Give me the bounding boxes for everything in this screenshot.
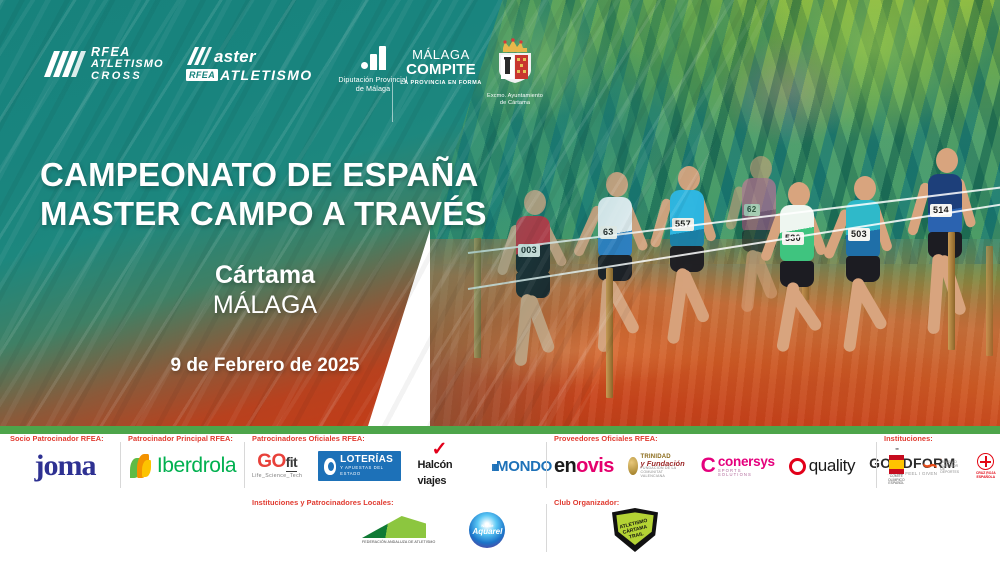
csd-caption: CONSEJO SUPERIOR DE DEPORTES [940, 461, 962, 475]
rfea-atletismo-cross-logo: RFEA ATLETISMO CROSS [42, 46, 182, 92]
loterias-logo[interactable]: LOTERÍAS Y APUESTAS DEL ESTADO [318, 451, 401, 481]
sponsor-group-club-organizador: Club Organizador: ATLETISMO CÁRTAMA TRAI… [554, 498, 774, 562]
conersys-sys: sys [753, 454, 775, 469]
fada-logo[interactable]: FEDERACIÓN ANDALUZA DE ATLETISMO [362, 516, 435, 544]
sponsor-group-patrocinador-principal: Patrocinador Principal RFEA: Iberdrola [128, 434, 238, 496]
event-poster: 003 63 557 [0, 0, 1000, 563]
sponsor-group-locales: Instituciones y Patrocinadores Locales: … [252, 498, 552, 562]
aquarel-logo[interactable]: Nestlé Aquarel [469, 512, 505, 548]
comite-olimpico-espanol-logo[interactable]: ◦◦◦ COMITÉ OLÍMPICO ESPAÑOL [884, 446, 909, 485]
iberdrola-leaf-icon [130, 454, 154, 479]
sponsor-separator [546, 442, 547, 488]
conersys-coner: coner [718, 454, 753, 469]
enovis-en: en [554, 455, 576, 477]
event-title-line-2: MASTER CAMPO A TRAVÉS [40, 194, 520, 233]
event-province: MÁLAGA [40, 290, 490, 320]
sponsor-group-label: Club Organizador: [554, 498, 774, 507]
ayuntamiento-cartama-logo: Excmo. Ayuntamiento de Cártama [484, 38, 546, 107]
event-title-line-1: CAMPEONATO DE ESPAÑA [40, 155, 520, 194]
fundacion-seal-icon [628, 457, 638, 475]
fundacion-tagline: FUNDACIÓN DE LA COMUNITAT VALENCIANA [641, 467, 687, 478]
conersys-c-icon: C [701, 457, 716, 475]
loterias-ball-icon [324, 458, 336, 475]
consejo-superior-deportes-logo[interactable]: ∽ · CONSEJO SUPERIOR DE DEPORTES [922, 457, 963, 475]
aquarel-wordmark: Aquarel [473, 528, 503, 536]
cartama-coat-of-arms-icon [492, 38, 538, 86]
red-cross-icon [977, 453, 994, 470]
fada-mountain-icon [362, 516, 435, 538]
sponsor-group-label: Patrocinadores Oficiales RFEA: [252, 434, 552, 443]
loterias-subtext: Y APUESTAS DEL ESTADO [340, 465, 395, 477]
logo-divider [392, 82, 393, 122]
rfea-line-3: CROSS [91, 70, 164, 82]
sponsor-footer: Socio Patrocinador RFEA: joma Patrocinad… [0, 434, 1000, 563]
compite-line-2: COMPITE [398, 62, 484, 77]
sponsor-group-label: Instituciones: [884, 434, 996, 443]
sponsor-group-label: Patrocinador Principal RFEA: [128, 434, 238, 443]
master-wordmark-bottom: ATLETISMO [220, 68, 312, 83]
loterias-wordmark: LOTERÍAS [340, 455, 395, 465]
sponsor-separator [120, 442, 121, 488]
halcon-viajes-logo[interactable]: ✓ Halcón viajes [417, 444, 475, 488]
club-wordmark: ATLETISMO CÁRTAMA TRAIL [607, 503, 662, 557]
sponsor-group-proveedores-oficiales: Proveedores Oficiales RFEA: enovis TRINI… [554, 434, 880, 496]
conersys-logo[interactable]: C conersys SPORTS SOLUTIONS [701, 455, 775, 477]
halcon-viajes-word: viajes [417, 475, 446, 487]
quality-ring-icon [789, 458, 806, 475]
halcon-wordmark: Halcón [417, 459, 452, 471]
sponsor-group-patrocinadores-oficiales: Patrocinadores Oficiales RFEA: GOfit Lif… [252, 434, 552, 496]
sponsor-row-top: Socio Patrocinador RFEA: joma Patrocinad… [0, 434, 1000, 496]
fada-caption: FEDERACIÓN ANDALUZA DE ATLETISMO [362, 540, 435, 544]
event-date: 9 de Febrero de 2025 [40, 355, 490, 377]
sponsor-group-socio-patrocinador: Socio Patrocinador RFEA: joma [10, 434, 120, 496]
gofit-tagline: Life_Science_Tech [252, 474, 302, 479]
master-chevron-icon [186, 46, 212, 66]
gofit-logo[interactable]: GOfit Life_Science_Tech [252, 452, 302, 479]
iberdrola-wordmark: Iberdrola [157, 454, 236, 478]
atletismo-cartama-trail-logo[interactable]: ATLETISMO CÁRTAMA TRAIL [612, 508, 658, 552]
sponsor-separator [546, 504, 547, 552]
sponsor-group-label: Socio Patrocinador RFEA: [10, 434, 120, 443]
sponsor-group-instituciones: Instituciones: ◦◦◦ COMITÉ OLÍMPICO ESPAÑ… [884, 434, 996, 496]
halcon-tick-icon: ✓ [431, 444, 475, 456]
rfea-line-1: RFEA [91, 46, 164, 58]
sponsor-separator [876, 442, 877, 488]
rfea-line-2: ATLETISMO [91, 58, 164, 70]
master-rfea-chip: RFEA [186, 69, 218, 81]
sponsor-separator [244, 442, 245, 488]
gofit-go: GO [257, 451, 285, 472]
sponsor-group-label: Proveedores Oficiales RFEA: [554, 434, 880, 443]
master-atletismo-logo: aster RFEA ATLETISMO [186, 46, 326, 92]
master-wordmark-top: aster [214, 48, 256, 65]
fundacion-trinidad-alfonso-logo[interactable]: TRINIDAD y Fundación FUNDACIÓN DE LA COM… [628, 454, 687, 478]
joma-logo[interactable]: joma [35, 451, 96, 481]
event-city: Cártama [40, 260, 490, 290]
header-logo-strip: RFEA ATLETISMO CROSS a [0, 38, 640, 100]
compite-line-1: MÁLAGA [398, 48, 484, 62]
gofit-fit: fit [286, 454, 297, 472]
hero-section: 003 63 557 [0, 0, 1000, 426]
malaga-compite-logo: MÁLAGA COMPITE LA PROVINCIA EN FORMA [398, 48, 484, 87]
coe-caption: COMITÉ OLÍMPICO ESPAÑOL [884, 475, 909, 485]
compite-tagline: LA PROVINCIA EN FORMA [398, 79, 484, 87]
cruz-roja-caption: CRUZ ROJA ESPAÑOLA [976, 472, 996, 479]
sponsor-group-label: Instituciones y Patrocinadores Locales: [252, 498, 552, 507]
spain-flag-icon [889, 455, 904, 474]
rfea-cross-wordmark: RFEA ATLETISMO CROSS [91, 46, 164, 82]
sponsor-row-bottom: Instituciones y Patrocinadores Locales: … [0, 498, 1000, 562]
iberdrola-logo[interactable]: Iberdrola [130, 454, 236, 479]
quality-logo[interactable]: quality [789, 456, 855, 476]
quality-wordmark: quality [809, 456, 855, 476]
cruz-roja-logo[interactable]: CRUZ ROJA ESPAÑOLA [976, 453, 996, 479]
enovis-logo[interactable]: enovis [554, 455, 614, 478]
enovis-ovis: ovis [576, 455, 614, 477]
mondo-logo[interactable]: ıııMONDO [491, 458, 552, 475]
csd-swoosh-icon: ∽ [922, 458, 939, 474]
olympic-rings-icon: ◦◦◦ [884, 446, 909, 453]
conersys-tagline: SPORTS SOLUTIONS [718, 469, 775, 477]
event-location: Cártama MÁLAGA [40, 260, 490, 320]
green-divider-bar [0, 426, 1000, 434]
rfea-chevron-icon [42, 49, 86, 79]
ayuntamiento-caption: Excmo. Ayuntamiento de Cártama [484, 93, 546, 107]
event-title: CAMPEONATO DE ESPAÑA MASTER CAMPO A TRAV… [40, 155, 520, 233]
